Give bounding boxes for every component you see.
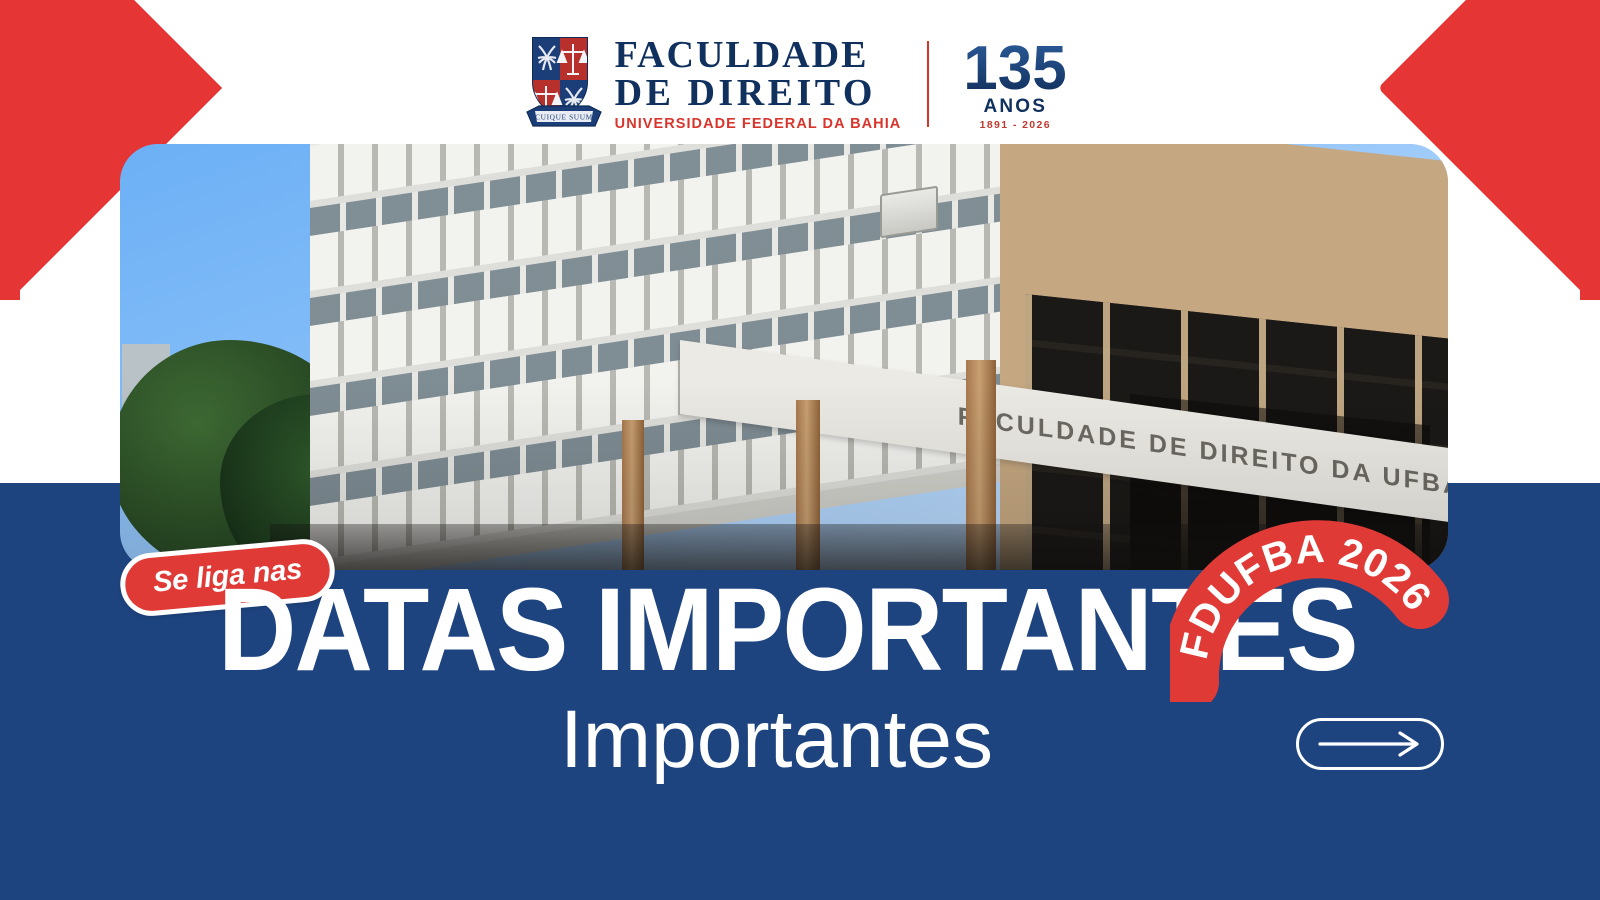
logo-wordmark: FACULDADE DE DIREITO UNIVERSIDADE FEDERA… <box>615 36 902 132</box>
logo-lockup: CUIQUE SUUM FACULDADE DE DIREITO UNIVERS… <box>0 28 1600 140</box>
anniversary-number-text: 135 <box>964 37 1067 95</box>
anniversary-badge: 135 ANOS 1891 - 2026 <box>955 37 1075 131</box>
slide-canvas: FACULDADE DE DIREITO DA UFBA <box>0 0 1600 900</box>
page-subtitle: Importantes <box>560 694 993 786</box>
coat-of-arms-icon: CUIQUE SUUM <box>525 32 603 136</box>
logo-line-3: UNIVERSIDADE FEDERAL DA BAHIA <box>615 116 902 132</box>
logo-divider <box>927 41 929 127</box>
next-button[interactable] <box>1296 718 1444 770</box>
crest-motto: CUIQUE SUUM <box>535 113 593 122</box>
logo-line-2: DE DIREITO <box>615 74 902 112</box>
anniversary-years: 1891 - 2026 <box>980 119 1051 131</box>
anniversary-word: ANOS <box>983 96 1047 118</box>
arc-badge: FDUFBA 2026.1 <box>1170 482 1450 702</box>
anniversary-number-icon: 135 <box>955 37 1075 95</box>
logo-line-1: FACULDADE <box>615 36 902 74</box>
arrow-right-icon <box>1316 731 1424 757</box>
